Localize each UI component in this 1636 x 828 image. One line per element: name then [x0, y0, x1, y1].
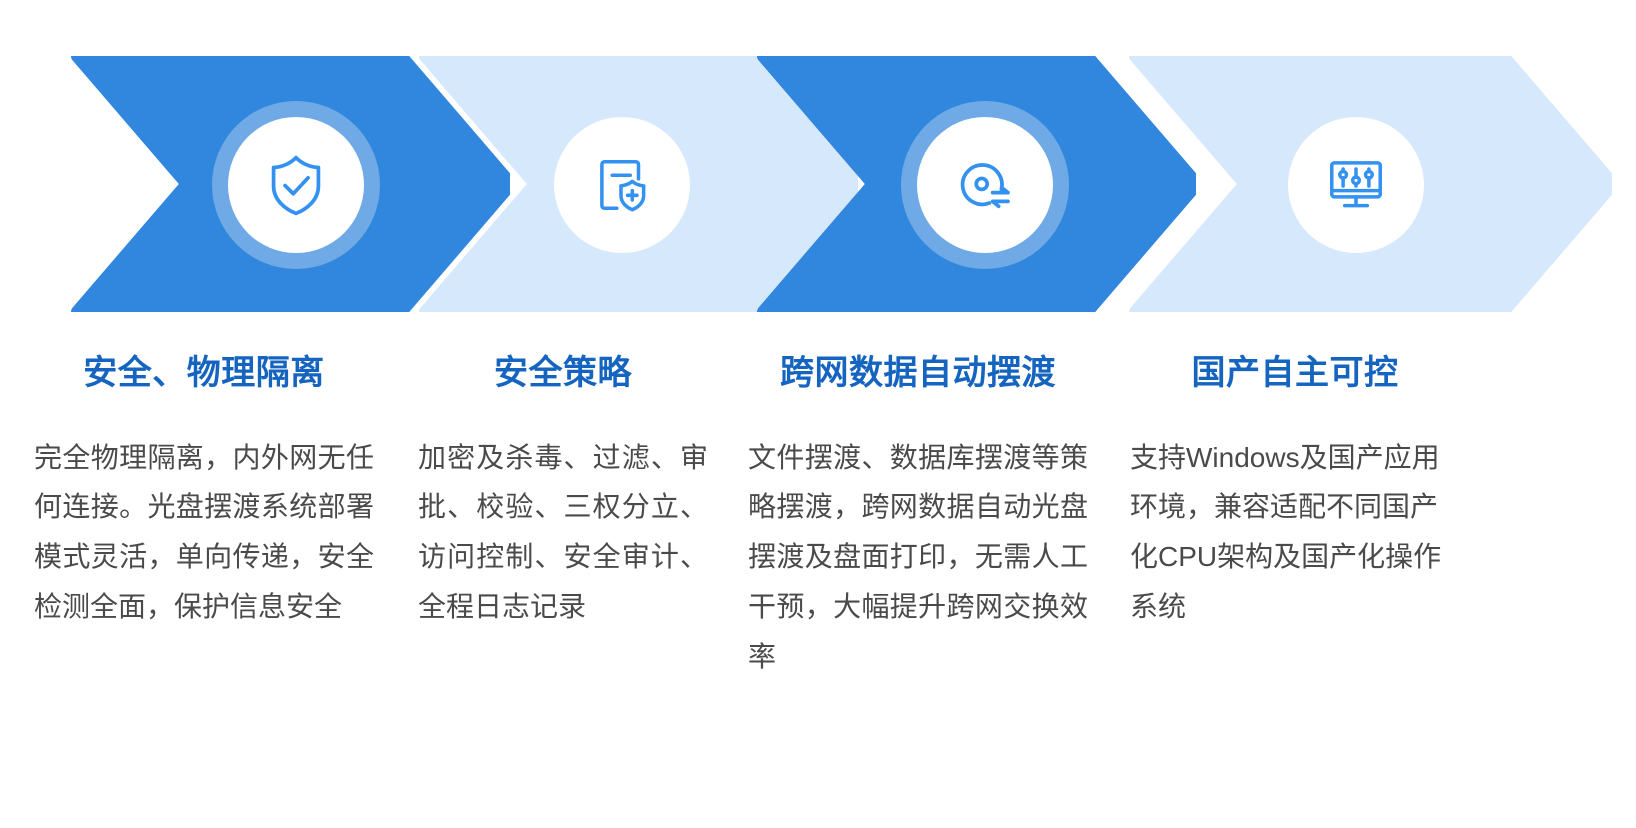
feature-title-2: 安全策略	[418, 352, 708, 395]
feature-title-4: 国产自主可控	[1130, 352, 1460, 395]
feature-title-3: 跨网数据自动摆渡	[748, 352, 1088, 395]
feature-columns: 安全、物理隔离 完全物理隔离，内外网无任何连接。光盘摆渡系统部署模式灵活，单向传…	[0, 352, 1636, 828]
monitor-sliders-icon	[1323, 152, 1389, 218]
feature-column-3: 跨网数据自动摆渡 文件摆渡、数据库摆渡等策略摆渡，跨网数据自动光盘摆渡及盘面打印…	[748, 352, 1088, 682]
document-shield-plus-icon	[589, 152, 655, 218]
feature-column-2: 安全策略 加密及杀毒、过滤、审批、校验、三权分立、访问控制、安全审计、全程日志记…	[418, 352, 708, 632]
feature-body-4: 支持Windows及国产应用环境，兼容适配不同国产化CPU架构及国产化操作系统	[1130, 433, 1460, 632]
icon-bubble-2	[554, 117, 690, 253]
process-chevron-band	[0, 0, 1636, 340]
feature-title-1: 安全、物理隔离	[34, 352, 374, 395]
feature-body-3: 文件摆渡、数据库摆渡等策略摆渡，跨网数据自动光盘摆渡及盘面打印，无需人工干预，大…	[748, 433, 1088, 682]
icon-bubble-3	[917, 117, 1053, 253]
icon-bubble-1	[228, 117, 364, 253]
feature-body-2: 加密及杀毒、过滤、审批、校验、三权分立、访问控制、安全审计、全程日志记录	[418, 433, 708, 632]
disc-transfer-icon	[950, 150, 1020, 220]
infographic-root: 安全、物理隔离 完全物理隔离，内外网无任何连接。光盘摆渡系统部署模式灵活，单向传…	[0, 0, 1636, 828]
shield-check-icon	[261, 150, 331, 220]
icon-bubble-4	[1288, 117, 1424, 253]
feature-body-1: 完全物理隔离，内外网无任何连接。光盘摆渡系统部署模式灵活，单向传递，安全检测全面…	[34, 433, 374, 632]
feature-column-4: 国产自主可控 支持Windows及国产应用环境，兼容适配不同国产化CPU架构及国…	[1130, 352, 1460, 632]
feature-column-1: 安全、物理隔离 完全物理隔离，内外网无任何连接。光盘摆渡系统部署模式灵活，单向传…	[34, 352, 374, 632]
